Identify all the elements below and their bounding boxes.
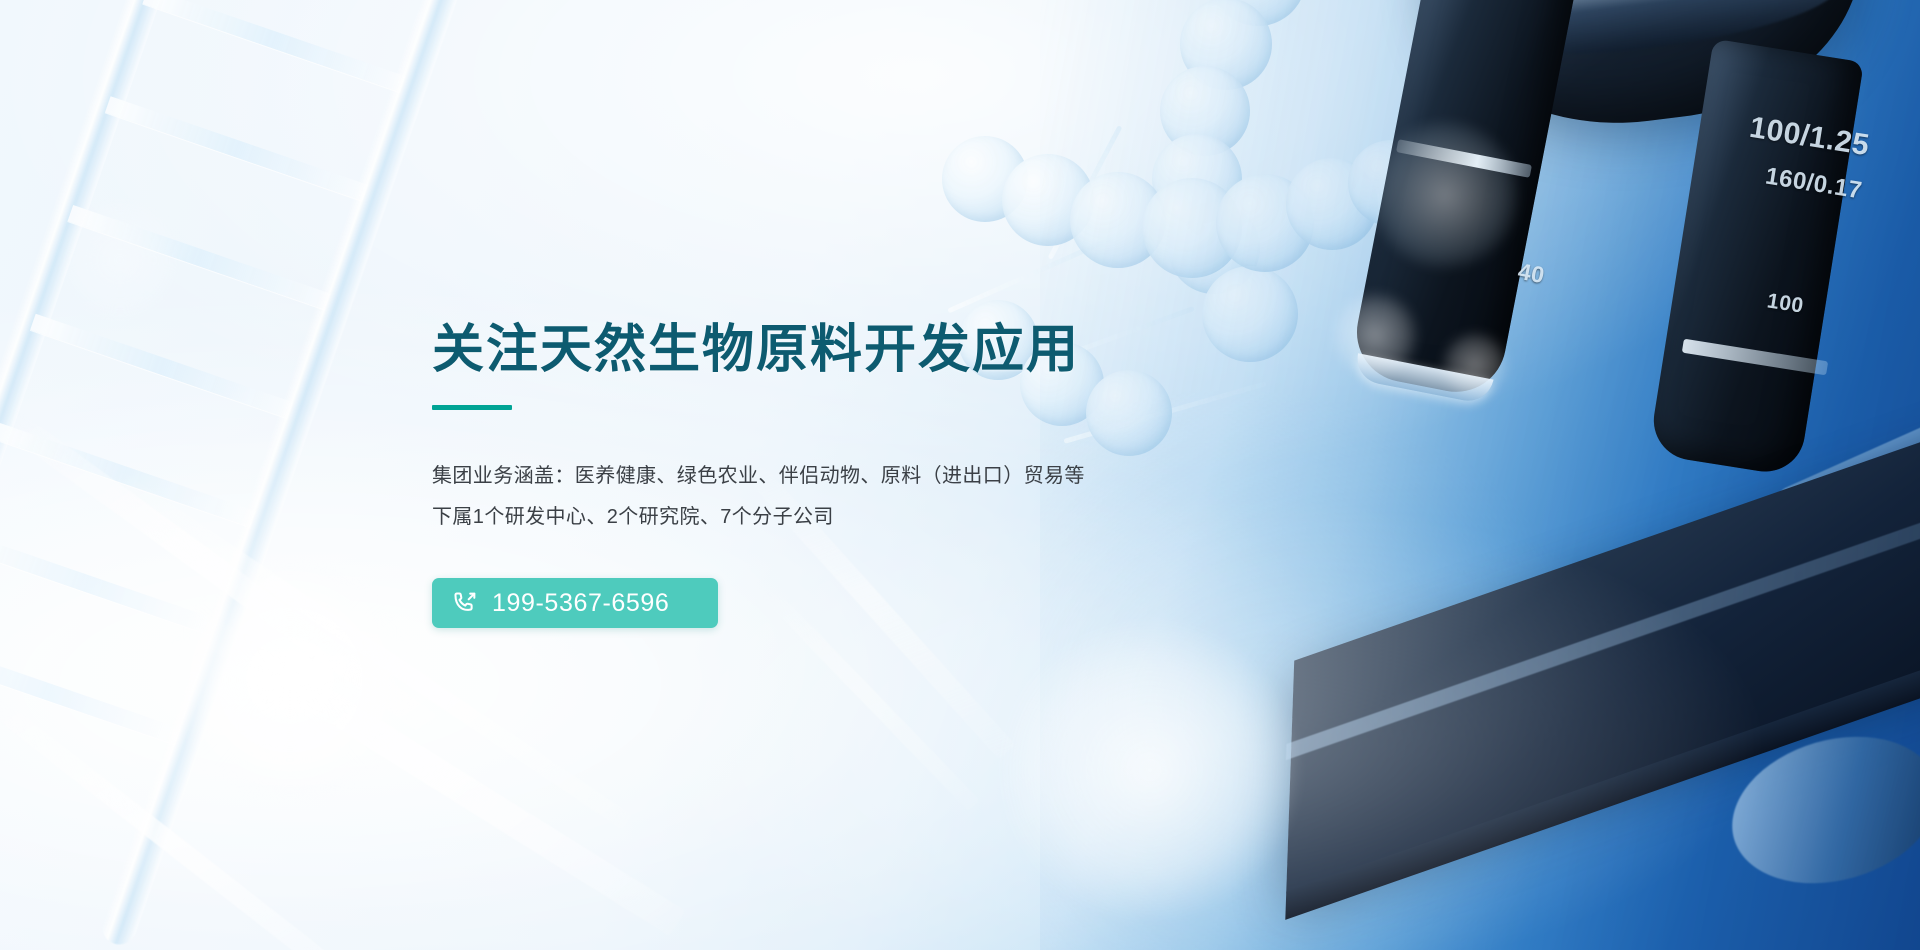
helix-rung xyxy=(30,314,293,419)
hero-headline: 关注天然生物原料开发应用 xyxy=(432,322,1252,379)
microscope-turret-ring xyxy=(1447,0,1844,71)
microscope-objective-side xyxy=(1648,39,1864,478)
bokeh-light xyxy=(170,560,410,800)
microscope-stage xyxy=(1286,416,1920,893)
headline-divider xyxy=(432,405,512,410)
microscope-objective-band xyxy=(1682,339,1828,376)
hero-description: 集团业务涵盖：医养健康、绿色农业、伴侣动物、原料（进出口）贸易等 下属1个研发中… xyxy=(432,456,1172,538)
microscope-objective-band xyxy=(1396,139,1532,178)
microscope-marking-40: 40 xyxy=(1516,258,1547,290)
microscope-turret xyxy=(1411,0,1878,145)
glass-shard xyxy=(0,694,375,950)
microscope-objective-front xyxy=(1348,0,1577,400)
molecule-bead xyxy=(1348,140,1434,226)
description-line-2: 下属1个研发中心、2个研究院、7个分子公司 xyxy=(432,497,1172,538)
phone-forwarded-icon xyxy=(452,590,478,616)
hero-content: 关注天然生物原料开发应用 集团业务涵盖：医养健康、绿色农业、伴侣动物、原料（进出… xyxy=(432,0,1252,950)
microscope: 40 100/1.25 160/0.17 100 xyxy=(1220,0,1920,950)
description-line-1: 集团业务涵盖：医养健康、绿色农业、伴侣动物、原料（进出口）贸易等 xyxy=(432,456,1172,497)
glass-shard xyxy=(2,410,438,737)
helix-rung xyxy=(143,0,406,92)
helix-rung xyxy=(0,531,218,636)
helix-rung xyxy=(0,640,181,745)
bokeh-light xyxy=(1330,290,1420,380)
microscope-arm xyxy=(1776,394,1920,556)
phone-cta-button[interactable]: 199-5367-6596 xyxy=(432,578,718,628)
bokeh-light xyxy=(1370,120,1520,270)
phone-number-label: 199-5367-6596 xyxy=(492,591,669,616)
hero-banner: 40 100/1.25 160/0.17 100 关注天然生物原料开发应用 集团… xyxy=(0,0,1920,950)
helix-rung xyxy=(0,422,255,527)
bokeh-light xyxy=(1440,330,1510,400)
microscope-stage-edge xyxy=(1286,500,1920,760)
microscope-marking-100: 100 xyxy=(1766,289,1806,318)
microscope-marking-100-125: 100/1.25 xyxy=(1747,111,1872,163)
bokeh-light xyxy=(60,200,180,320)
microscope-focus-knob xyxy=(1715,714,1920,906)
microscope-marking-160-017: 160/0.17 xyxy=(1763,163,1864,206)
helix-strand-left xyxy=(0,0,240,858)
helix-rung xyxy=(105,96,368,201)
molecule-bead xyxy=(1286,158,1378,250)
helix-rung xyxy=(68,205,331,310)
